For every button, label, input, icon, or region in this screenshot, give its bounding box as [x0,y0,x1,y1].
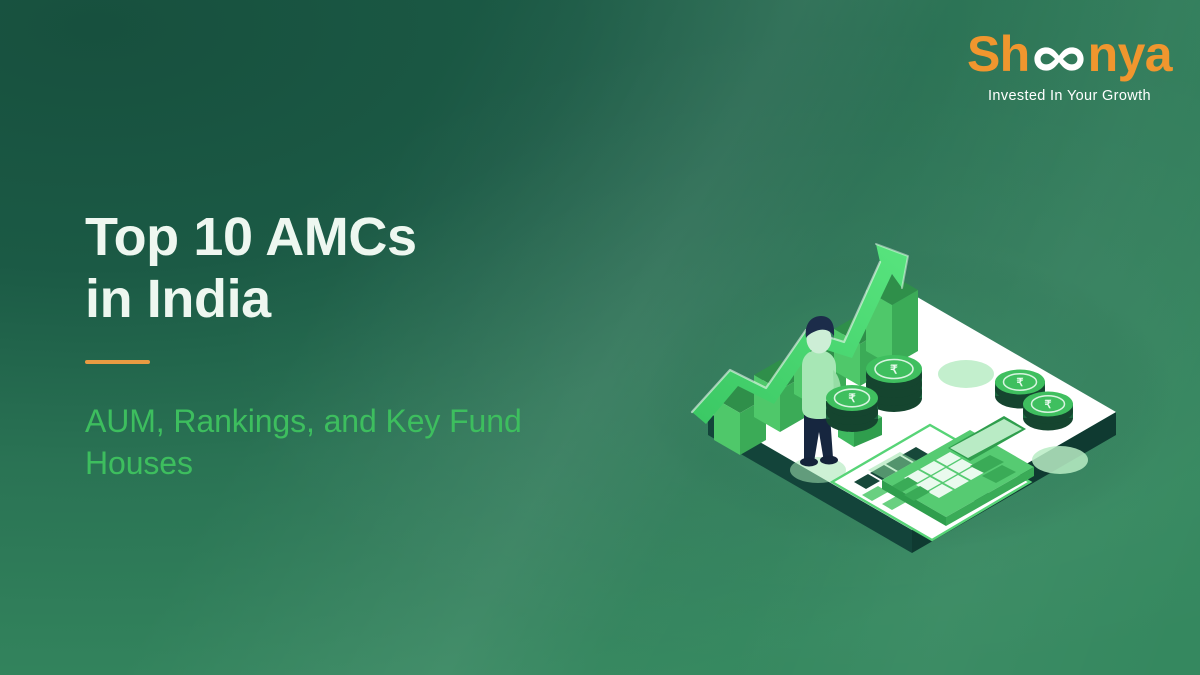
page-subtitle-line-1: AUM, Rankings, and Key [85,403,440,439]
page-title: Top 10 AMCs in India [85,206,645,330]
banner-canvas: Sh nya Invested In Your Growth Top 10 AM… [0,0,1200,675]
page-title-line-1: Top 10 AMCs [85,207,417,267]
person-shoe-right [820,456,838,465]
page-subtitle: AUM, Rankings, and Key Fund Houses [85,400,565,484]
svg-text:₹: ₹ [890,363,898,377]
brand-tagline: Invested In Your Growth [967,89,1172,104]
coin-stack-right-lower: ₹ [1023,392,1073,431]
headline-block: Top 10 AMCs in India AUM, Rankings, and … [85,206,645,485]
infinity-icon [1031,32,1087,82]
brand-logo[interactable]: Sh nya Invested In Your Growth [967,28,1172,104]
coin-stack-front: ₹ [826,385,878,432]
person-shoe-left [800,458,818,467]
brand-wordmark-prefix: Sh [967,29,1030,79]
accent-divider [85,360,150,364]
svg-text:₹: ₹ [1045,399,1052,411]
platform-disc-2 [1032,446,1088,474]
platform-disc-1 [938,360,994,388]
brand-wordmark-suffix: nya [1088,29,1172,79]
brand-wordmark: Sh nya [967,28,1172,80]
hero-illustration: ₹ ₹ ₹ [630,170,1190,590]
page-title-line-2: in India [85,269,271,329]
svg-text:₹: ₹ [848,393,856,405]
svg-text:₹: ₹ [1017,377,1024,389]
